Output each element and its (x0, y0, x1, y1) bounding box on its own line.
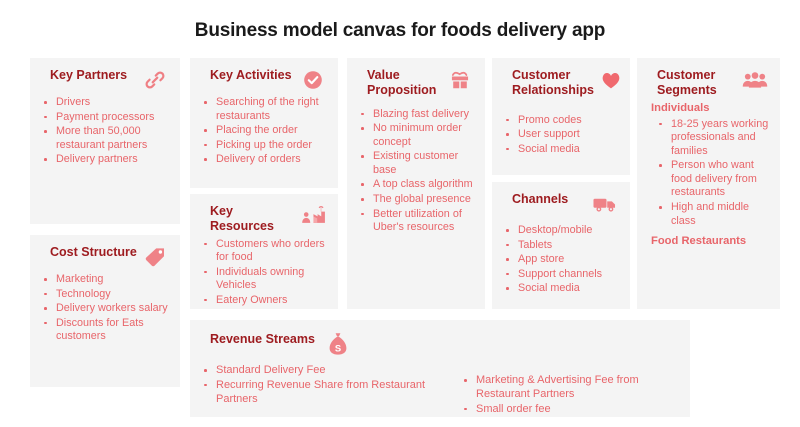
block-channels[interactable]: Channels Desktop/mobile Tablets App stor… (492, 182, 630, 309)
money-bag-icon: S (325, 332, 351, 356)
block-header: Revenue Streams S (198, 332, 682, 356)
list-item: Promo codes (500, 114, 622, 128)
block-header: Customer Relationships (500, 68, 622, 98)
block-list: 18-25 years working professionals and fa… (645, 118, 772, 229)
list-item: A top class algorithm (355, 178, 477, 192)
list-item: Support channels (500, 268, 622, 282)
list-item: More than 50,000 restaurant partners (38, 125, 172, 152)
business-model-canvas: Business model canvas for foods delivery… (0, 0, 800, 427)
subheading-individuals: Individuals (651, 102, 772, 114)
list-item: Drivers (38, 96, 172, 110)
list-item: Person who want food delivery from resta… (645, 159, 772, 200)
block-title: Cost Structure (50, 245, 137, 260)
list-item: Eatery Owners (198, 294, 330, 308)
list-item: Payment processors (38, 111, 172, 125)
subheading-food-restaurants: Food Restaurants (651, 235, 772, 247)
block-header: Channels (500, 192, 622, 216)
block-list: Drivers Payment processors More than 50,… (38, 96, 172, 167)
list-item: Customers who orders for food (198, 238, 330, 265)
list-item: Recurring Revenue Share from Restaurant … (198, 379, 448, 407)
block-customer-relationships[interactable]: Customer Relationships Promo codes User … (492, 58, 630, 175)
block-header: Value Proposition (355, 68, 477, 98)
list-item: Blazing fast delivery (355, 108, 477, 122)
list-item: Standard Delivery Fee (198, 364, 448, 378)
list-item: User support (500, 128, 622, 142)
list-item: Marketing (38, 273, 172, 287)
list-item: No minimum order concept (355, 122, 477, 149)
block-list: Marketing Technology Delivery workers sa… (38, 273, 172, 344)
list-item: High and middle class (645, 201, 772, 228)
list-item: The global presence (355, 193, 477, 207)
block-key-activities[interactable]: Key Activities Searching of the right re… (190, 58, 338, 188)
list-item: 18-25 years working professionals and fa… (645, 118, 772, 159)
block-list: Searching of the right restaurants Placi… (198, 96, 330, 167)
list-item: Desktop/mobile (500, 224, 622, 238)
block-value-proposition[interactable]: Value Proposition Blazing fast delivery … (347, 58, 485, 309)
block-list: Standard Delivery Fee Recurring Revenue … (198, 364, 448, 407)
block-header: Cost Structure (38, 245, 172, 269)
factory-icon (300, 204, 326, 228)
block-list: Desktop/mobile Tablets App store Support… (500, 224, 622, 296)
block-title: Customer Relationships (512, 68, 594, 98)
price-tag-icon (142, 245, 168, 269)
block-key-resources[interactable]: Key Resources Customers who orders for f… (190, 194, 338, 309)
block-header: Key Resources (198, 204, 330, 234)
block-list: Customers who orders for food Individual… (198, 238, 330, 308)
list-item: Social media (500, 143, 622, 157)
list-item: Better utilization of Uber's resources (355, 208, 477, 235)
list-item: Discounts for Eats customers (38, 317, 172, 344)
heart-icon (598, 68, 624, 92)
block-header: Key Partners (38, 68, 172, 92)
list-item: App store (500, 253, 622, 267)
list-item: Picking up the order (198, 139, 330, 153)
block-header: Customer Segments (645, 68, 772, 98)
block-list: Blazing fast delivery No minimum order c… (355, 108, 477, 235)
block-title: Customer Segments (657, 68, 738, 98)
block-list: Marketing & Advertising Fee from Restaur… (458, 374, 682, 417)
revenue-column-right: Marketing & Advertising Fee from Restaur… (448, 360, 682, 417)
list-item: Small order fee (458, 403, 682, 417)
list-item: Delivery partners (38, 153, 172, 167)
block-title: Key Activities (210, 68, 292, 83)
block-list: Promo codes User support Social media (500, 114, 622, 157)
block-title: Key Partners (50, 68, 127, 83)
list-item: Tablets (500, 239, 622, 253)
list-item: Marketing & Advertising Fee from Restaur… (458, 374, 682, 402)
list-item: Existing customer base (355, 150, 477, 177)
list-item: Delivery of orders (198, 153, 330, 167)
link-chain-icon (142, 68, 168, 92)
list-item: Social media (500, 282, 622, 296)
page-title: Business model canvas for foods delivery… (0, 20, 800, 42)
block-cost-structure[interactable]: Cost Structure Marketing Technology Deli… (30, 235, 180, 387)
svg-text:S: S (335, 342, 341, 353)
revenue-column-left: Standard Delivery Fee Recurring Revenue … (198, 360, 448, 417)
block-header: Key Activities (198, 68, 330, 92)
list-item: Individuals owning Vehicles (198, 266, 330, 293)
list-item: Delivery workers salary (38, 302, 172, 316)
block-title: Value Proposition (367, 68, 443, 98)
block-title: Key Resources (210, 204, 296, 234)
list-item: Placing the order (198, 124, 330, 138)
block-title: Revenue Streams (210, 332, 315, 347)
block-customer-segments[interactable]: Customer Segments Individuals 18-25 year… (637, 58, 780, 309)
block-key-partners[interactable]: Key Partners Drivers Payment processors … (30, 58, 180, 224)
list-item: Technology (38, 288, 172, 302)
revenue-columns: Standard Delivery Fee Recurring Revenue … (198, 360, 682, 417)
block-title: Channels (512, 192, 568, 207)
delivery-truck-icon (592, 192, 618, 216)
people-group-icon (742, 68, 768, 92)
block-revenue-streams[interactable]: Revenue Streams S Standard Delivery Fee … (190, 320, 690, 417)
list-item: Searching of the right restaurants (198, 96, 330, 123)
check-circle-icon (300, 68, 326, 92)
gift-box-icon (447, 68, 473, 92)
